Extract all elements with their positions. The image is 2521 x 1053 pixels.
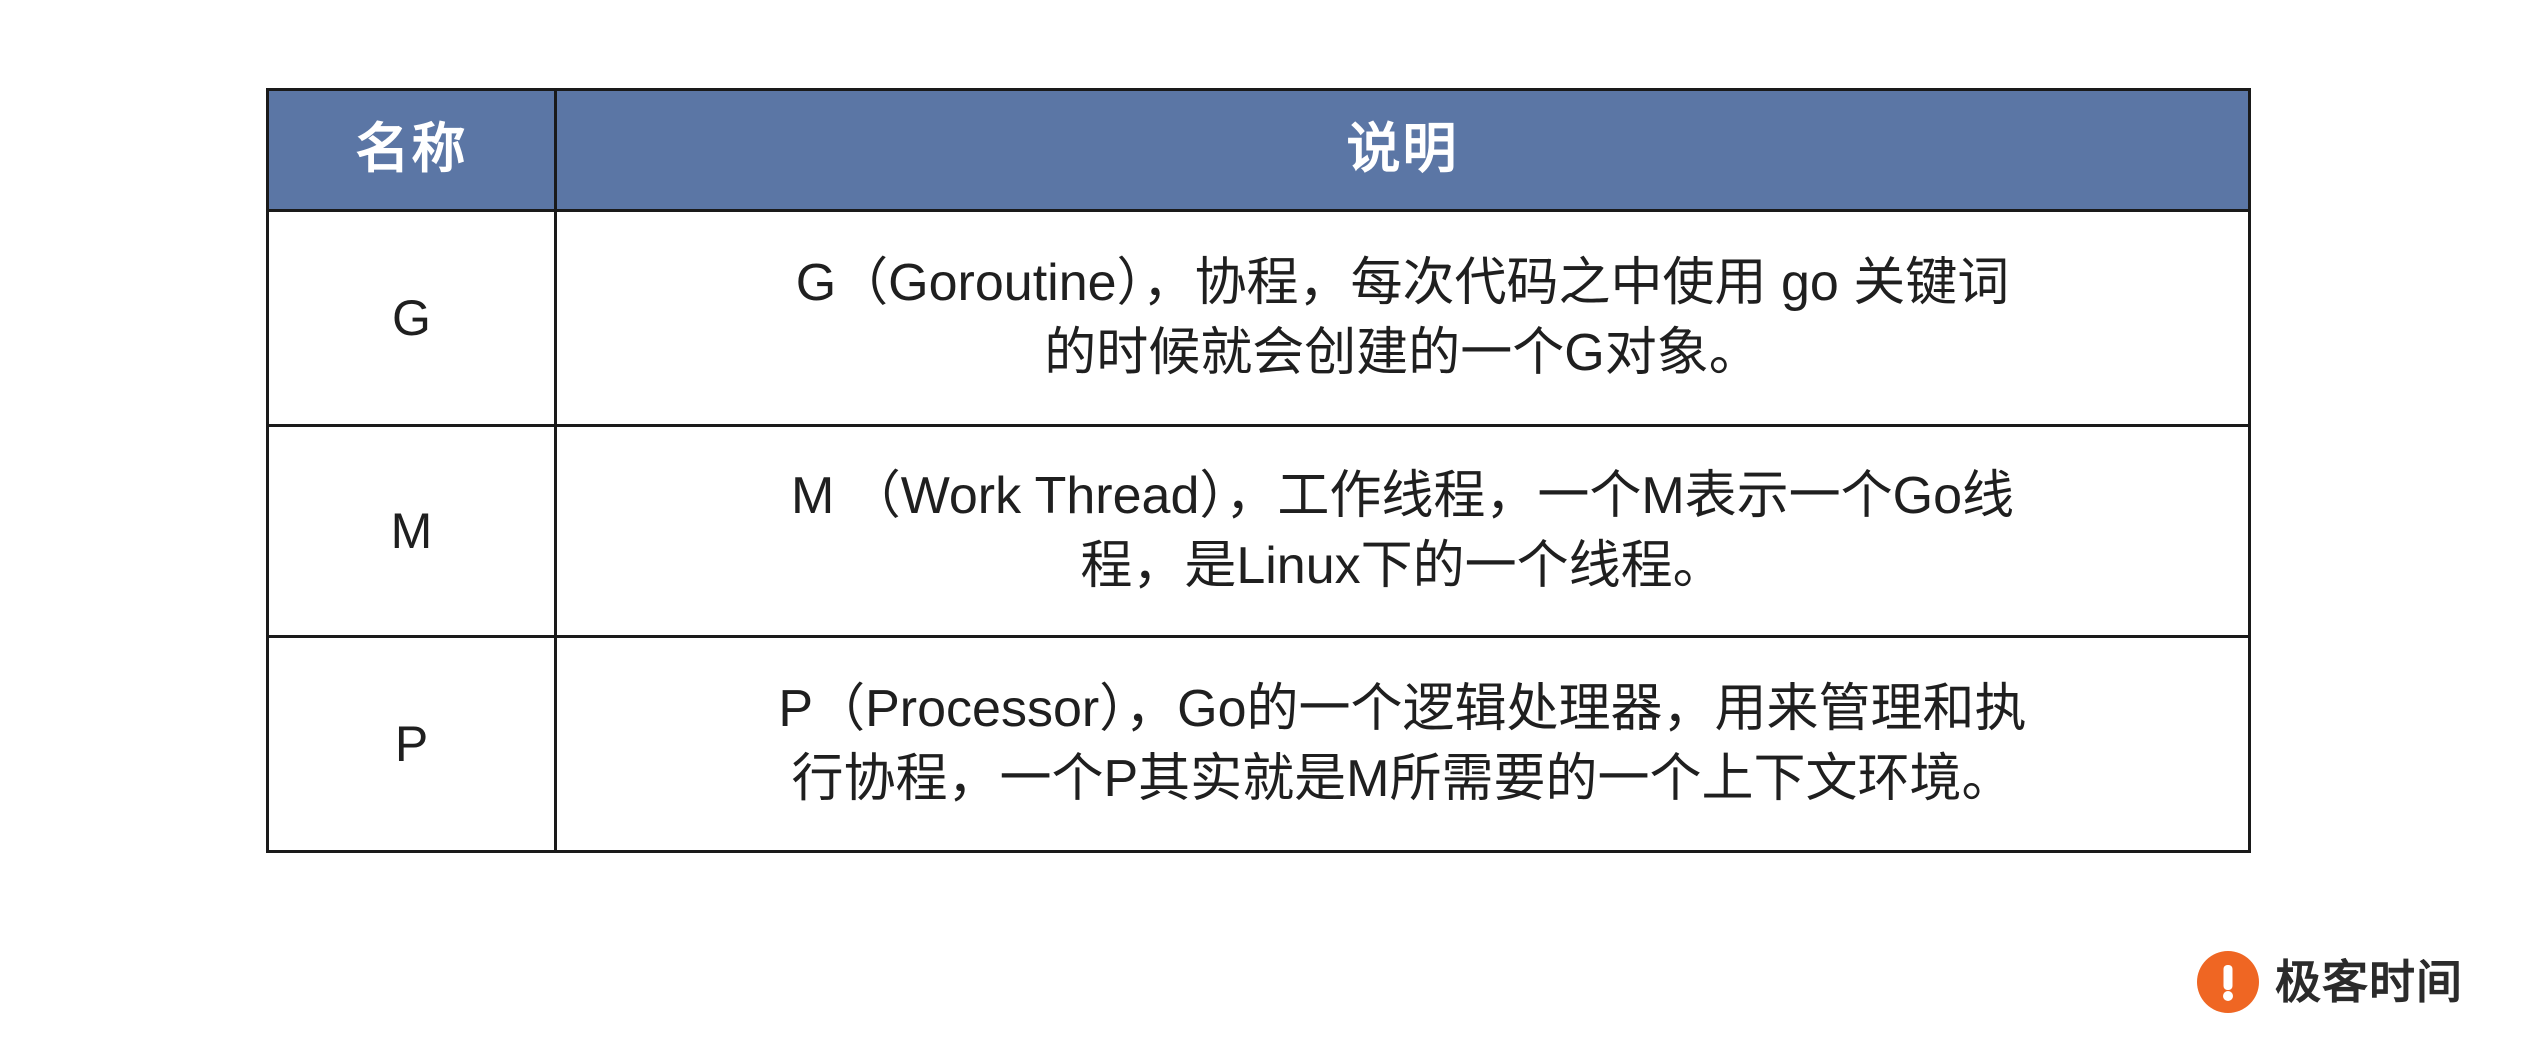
table-header-row: 名称 说明	[268, 90, 2250, 211]
table-row: P P（Processor），Go的一个逻辑处理器，用来管理和执 行协程，一个P…	[268, 637, 2250, 852]
cell-name-m: M	[268, 426, 556, 637]
description-line: P（Processor），Go的一个逻辑处理器，用来管理和执	[557, 674, 2248, 744]
brand-watermark: 极客时间	[2197, 951, 2463, 1013]
table-header: 名称 说明	[268, 90, 2250, 211]
column-header-description: 说明	[556, 90, 2250, 211]
cell-name-g: G	[268, 211, 556, 426]
slide-canvas: 名称 说明 G G（Goroutine），协程，每次代码之中使用 go 关键词 …	[0, 0, 2521, 1053]
description-line: G（Goroutine），协程，每次代码之中使用 go 关键词	[557, 248, 2248, 318]
table-row: M M （Work Thread），工作线程，一个M表示一个Go线 程，是Lin…	[268, 426, 2250, 637]
column-header-name: 名称	[268, 90, 556, 211]
cell-description-g: G（Goroutine），协程，每次代码之中使用 go 关键词 的时候就会创建的…	[556, 211, 2250, 426]
brand-name: 极客时间	[2275, 959, 2463, 1005]
description-line: 行协程，一个P其实就是M所需要的一个上下文环境。	[557, 744, 2248, 814]
description-line: 程，是Linux下的一个线程。	[557, 531, 2248, 601]
geektime-logo-icon	[2197, 951, 2259, 1013]
cell-name-p: P	[268, 637, 556, 852]
gmp-table-container: 名称 说明 G G（Goroutine），协程，每次代码之中使用 go 关键词 …	[266, 88, 2251, 853]
cell-description-p: P（Processor），Go的一个逻辑处理器，用来管理和执 行协程，一个P其实…	[556, 637, 2250, 852]
table-row: G G（Goroutine），协程，每次代码之中使用 go 关键词 的时候就会创…	[268, 211, 2250, 426]
cell-description-m: M （Work Thread），工作线程，一个M表示一个Go线 程，是Linux…	[556, 426, 2250, 637]
description-line: 的时候就会创建的一个G对象。	[557, 318, 2248, 388]
description-line: M （Work Thread），工作线程，一个M表示一个Go线	[557, 461, 2248, 531]
table-body: G G（Goroutine），协程，每次代码之中使用 go 关键词 的时候就会创…	[268, 211, 2250, 852]
gmp-table: 名称 说明 G G（Goroutine），协程，每次代码之中使用 go 关键词 …	[266, 88, 2251, 853]
